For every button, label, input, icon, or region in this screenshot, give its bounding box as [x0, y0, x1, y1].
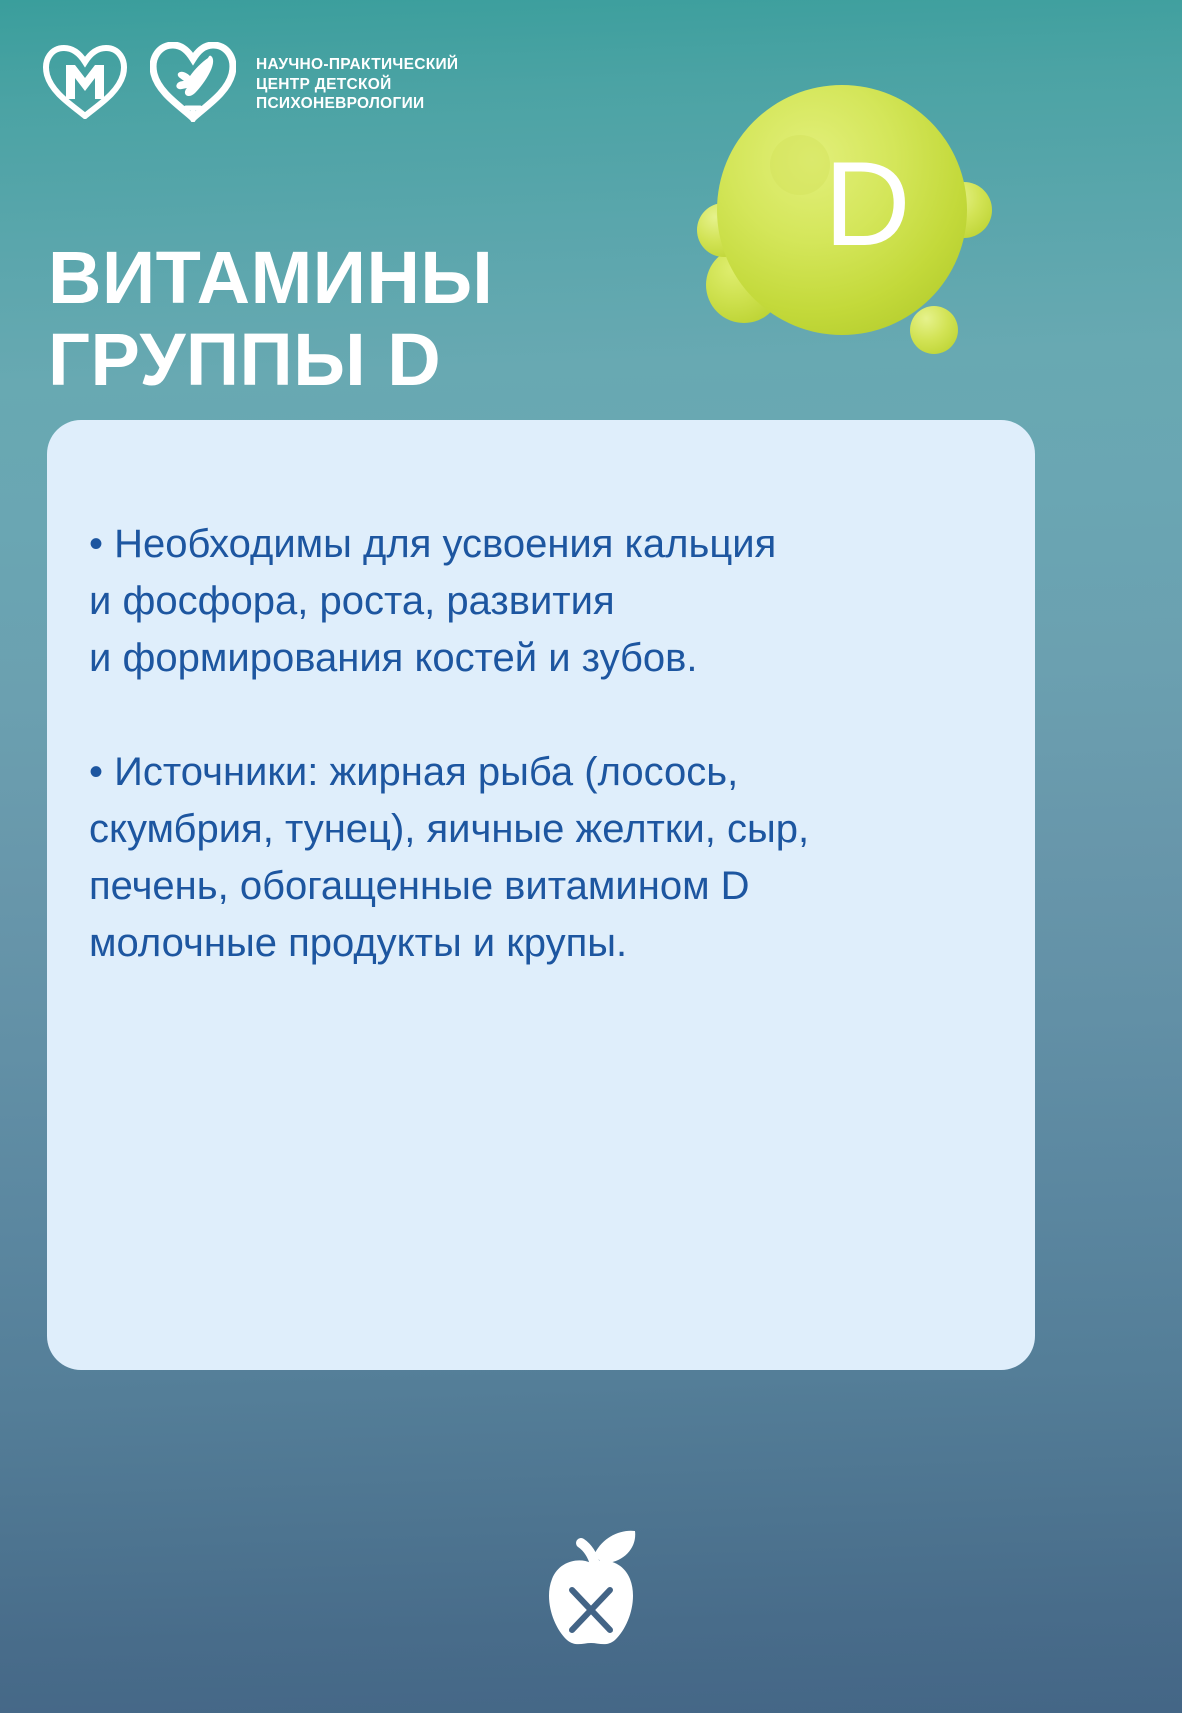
page-title: ВИТАМИНЫ ГРУППЫ D — [48, 237, 493, 403]
list-item: • Необходимы для усвоения кальция и фосф… — [89, 516, 975, 686]
molecule-sphere — [910, 306, 958, 354]
moscow-health-logo-icon — [42, 45, 128, 124]
organization-name: НАУЧНО-ПРАКТИЧЕСКИЙ ЦЕНТР ДЕТСКОЙ ПСИХОН… — [256, 55, 458, 114]
vitamin-d-molecule-graphic: D — [672, 70, 1012, 370]
apple-fork-knife-icon — [539, 1523, 643, 1654]
center-heart-hand-logo-icon — [150, 42, 236, 127]
footer — [0, 1463, 1182, 1713]
poster-canvas: НАУЧНО-ПРАКТИЧЕСКИЙ ЦЕНТР ДЕТСКОЙ ПСИХОН… — [0, 0, 1182, 1713]
header-logo-row: НАУЧНО-ПРАКТИЧЕСКИЙ ЦЕНТР ДЕТСКОЙ ПСИХОН… — [42, 42, 458, 127]
content-card: • Необходимы для усвоения кальция и фосф… — [47, 420, 1035, 1370]
list-item: • Источники: жирная рыба (лосось, скумбр… — [89, 744, 975, 971]
molecule-letter: D — [824, 144, 911, 264]
